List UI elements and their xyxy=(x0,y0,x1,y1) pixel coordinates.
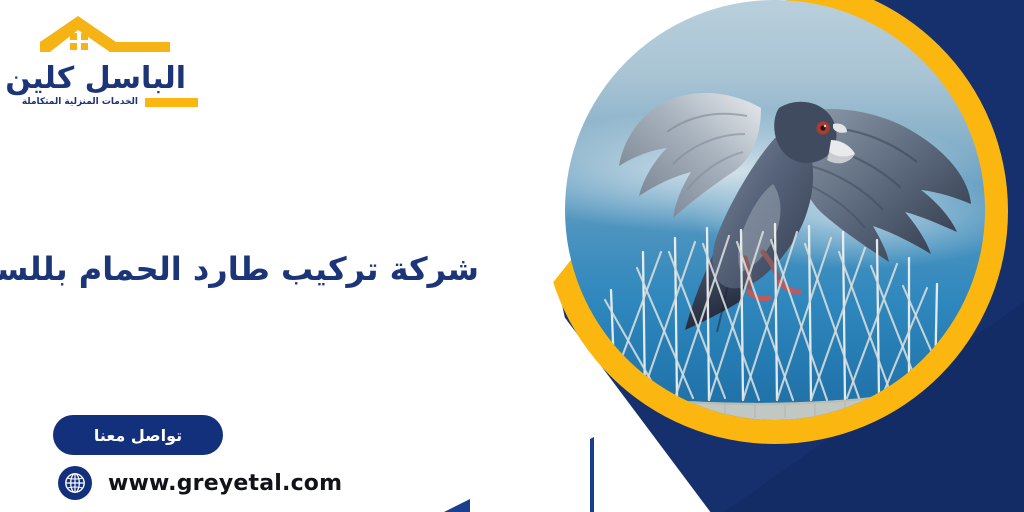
logo-accent-bar xyxy=(145,98,198,107)
logo-brand-name: الباسل كلين xyxy=(5,61,186,96)
page-title: شركة تركيب طارد الحمام بللسمر xyxy=(9,249,479,291)
website-row[interactable]: www.greyetal.com xyxy=(58,466,342,500)
logo-tagline: الخدمات المنزلية المتكاملة xyxy=(22,97,138,107)
bird-spikes-image xyxy=(565,0,985,420)
contact-us-button[interactable]: تواصل معنا xyxy=(53,415,223,455)
hero-photo-circle xyxy=(565,0,985,420)
brand-logo[interactable]: الباسل كلين الخدمات المنزلية المتكاملة xyxy=(18,14,268,106)
logo-tagline-row: الخدمات المنزلية المتكاملة xyxy=(22,97,198,107)
ring-bottom-left-mask xyxy=(470,362,590,512)
globe-icon xyxy=(58,466,92,500)
house-roof-icon xyxy=(36,14,176,60)
promo-banner: الباسل كلين الخدمات المنزلية المتكاملة ش… xyxy=(0,0,1024,512)
website-url[interactable]: www.greyetal.com xyxy=(108,471,342,496)
